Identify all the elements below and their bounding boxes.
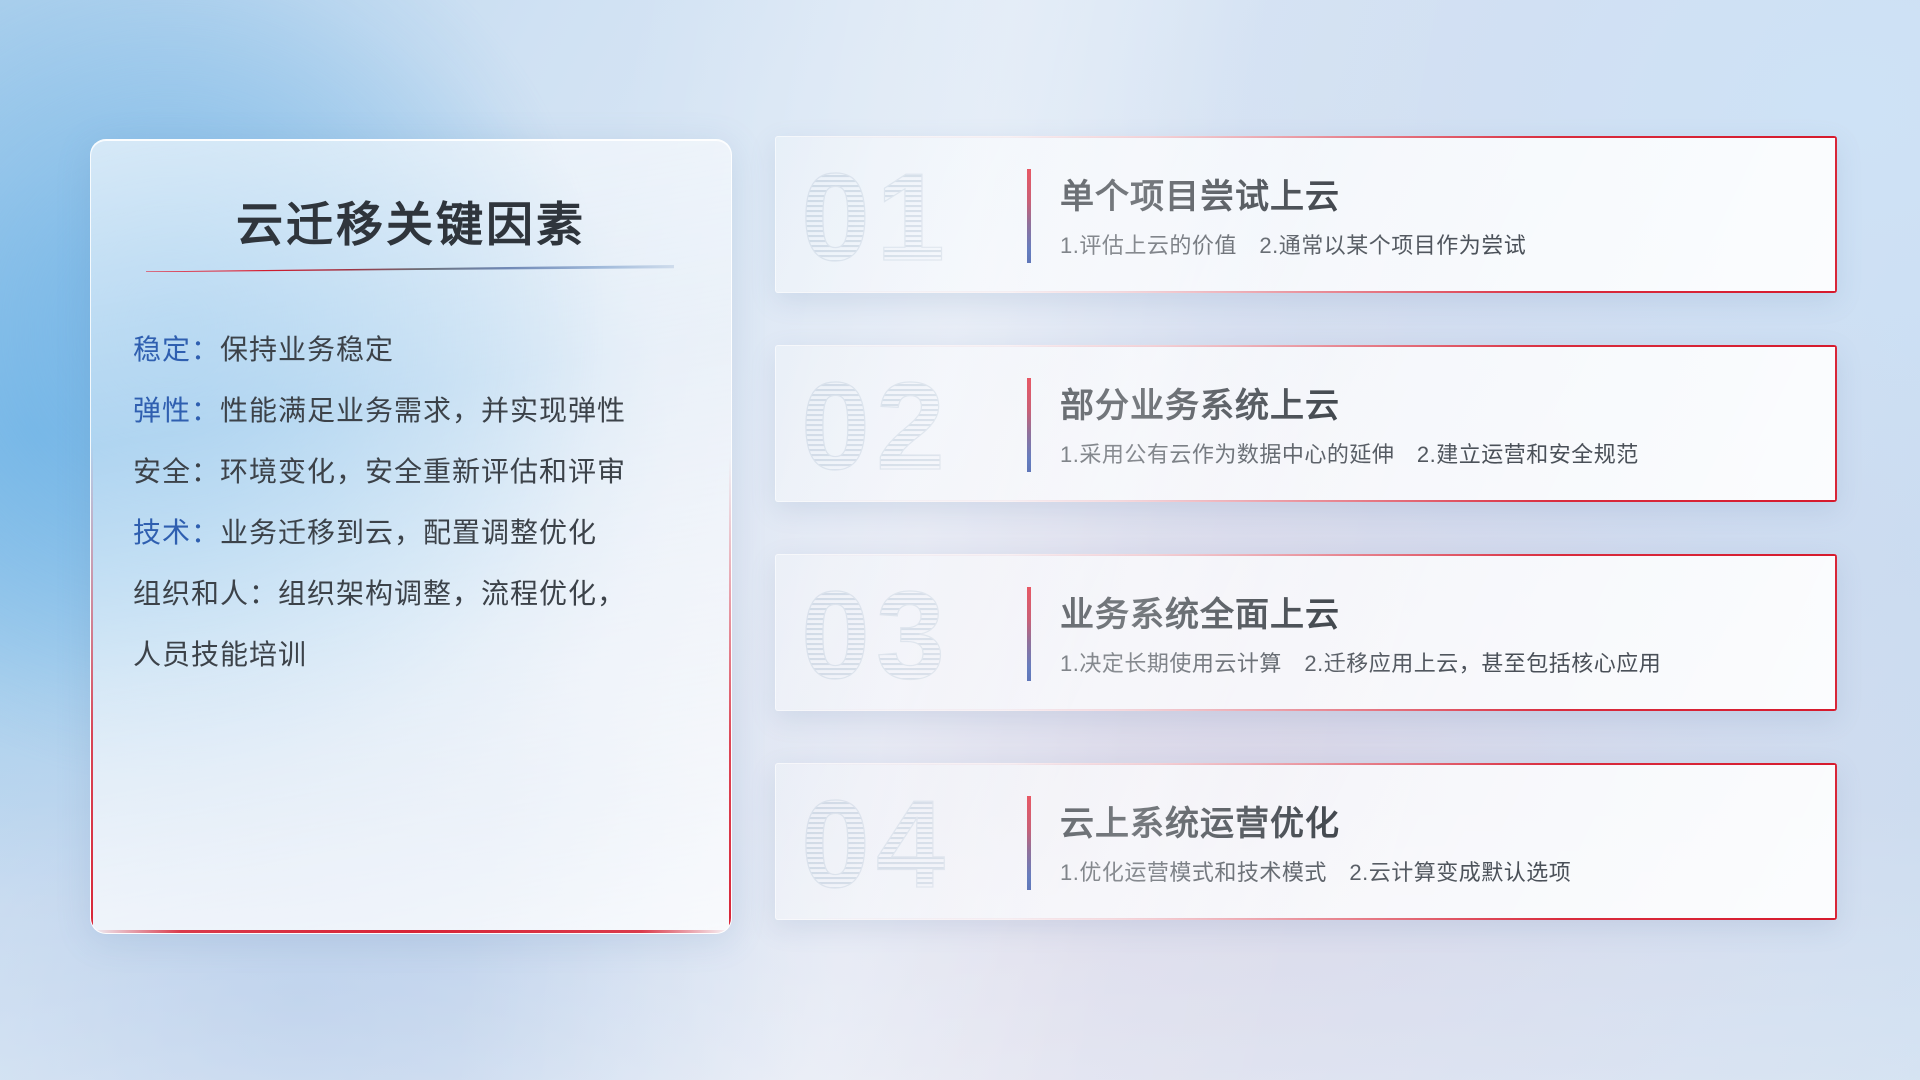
list-item-label: 弹性： [133, 395, 220, 426]
card-title: 单个项目尝试上云 [1060, 169, 1340, 218]
card-accent-bar [1027, 796, 1031, 890]
stage-number-glyph: 01 [797, 150, 1005, 278]
card-bottom-edge [775, 291, 1837, 293]
card-right-edge [1835, 136, 1837, 293]
list-item-label: 组织和人： [133, 578, 278, 609]
card-top-edge [775, 136, 1837, 138]
svg-text:04: 04 [801, 777, 951, 905]
card-top-edge [775, 345, 1837, 347]
card-right-edge [1835, 345, 1837, 502]
list-item: 技术：业务迁移到云，配置调整优化 [133, 519, 703, 547]
card-title: 部分业务系统上云 [1060, 378, 1340, 427]
list-item: 安全：环境变化，安全重新评估和评审 [133, 458, 703, 486]
title-divider [146, 265, 674, 272]
list-item-text: 组织架构调整，流程优化， [278, 578, 626, 609]
list-item: 弹性：性能满足业务需求，并实现弹性 [133, 397, 703, 425]
list-item-text: 环境变化，安全重新评估和评审 [220, 456, 626, 487]
stage-card[interactable]: 04 云上系统运营优化 1.优化运营模式和技术模式 2.云计算变成默认选项 [775, 763, 1837, 920]
list-item: 稳定：保持业务稳定 [133, 336, 703, 364]
card-title: 云上系统运营优化 [1060, 796, 1340, 845]
list-item-label: 安全： [133, 456, 220, 487]
card-accent-bar [1027, 378, 1031, 472]
list-item-label: 技术： [133, 517, 220, 548]
stage-number-glyph: 03 [797, 568, 1005, 696]
card-accent-bar [1027, 587, 1031, 681]
stage-card[interactable]: 01 单个项目尝试上云 1.评估上云的价值 2.通常以某个项目作为尝试 [775, 136, 1837, 293]
card-description: 1.优化运营模式和技术模式 2.云计算变成默认选项 [1060, 855, 1571, 887]
stage-card[interactable]: 03 业务系统全面上云 1.决定长期使用云计算 2.迁移应用上云，甚至包括核心应… [775, 554, 1837, 711]
card-top-edge [775, 554, 1837, 556]
card-accent-bar [1027, 169, 1031, 263]
card-title: 业务系统全面上云 [1060, 587, 1340, 636]
stage-card-list: 01 单个项目尝试上云 1.评估上云的价值 2.通常以某个项目作为尝试 02 部… [775, 136, 1837, 972]
panel-bottom-accent [91, 930, 731, 933]
list-item: 组织和人：组织架构调整，流程优化， [133, 580, 703, 608]
panel-left-accent [91, 441, 93, 933]
card-right-edge [1835, 763, 1837, 920]
stage-number-glyph: 04 [797, 777, 1005, 905]
card-bottom-edge [775, 918, 1837, 920]
list-item-text: 人员技能培训 [133, 639, 307, 670]
key-factors-panel: 云迁移关键因素 稳定：保持业务稳定 弹性：性能满足业务需求，并实现弹性 [90, 139, 732, 934]
card-right-edge [1835, 554, 1837, 711]
card-description: 1.采用公有云作为数据中心的延伸 2.建立运营和安全规范 [1060, 437, 1639, 469]
card-bottom-edge [775, 709, 1837, 711]
card-description: 1.评估上云的价值 2.通常以某个项目作为尝试 [1060, 228, 1526, 260]
card-bottom-edge [775, 500, 1837, 502]
stage-number-glyph: 02 [797, 359, 1005, 487]
panel-right-accent [729, 457, 731, 933]
svg-text:01: 01 [801, 150, 951, 278]
page-title: 云迁移关键因素 [91, 186, 731, 255]
stage-card[interactable]: 02 部分业务系统上云 1.采用公有云作为数据中心的延伸 2.建立运营和安全规范 [775, 345, 1837, 502]
svg-text:02: 02 [801, 359, 951, 487]
card-description: 1.决定长期使用云计算 2.迁移应用上云，甚至包括核心应用 [1060, 646, 1661, 678]
list-item: 人员技能培训 [133, 641, 703, 669]
card-top-edge [775, 763, 1837, 765]
list-item-label: 稳定： [133, 334, 220, 365]
list-item-text: 性能满足业务需求，并实现弹性 [220, 395, 626, 426]
key-factors-list: 稳定：保持业务稳定 弹性：性能满足业务需求，并实现弹性 安全：环境变化，安全重新… [133, 336, 703, 702]
list-item-text: 保持业务稳定 [220, 334, 394, 365]
list-item-text: 业务迁移到云，配置调整优化 [220, 517, 597, 548]
svg-text:03: 03 [801, 568, 951, 696]
